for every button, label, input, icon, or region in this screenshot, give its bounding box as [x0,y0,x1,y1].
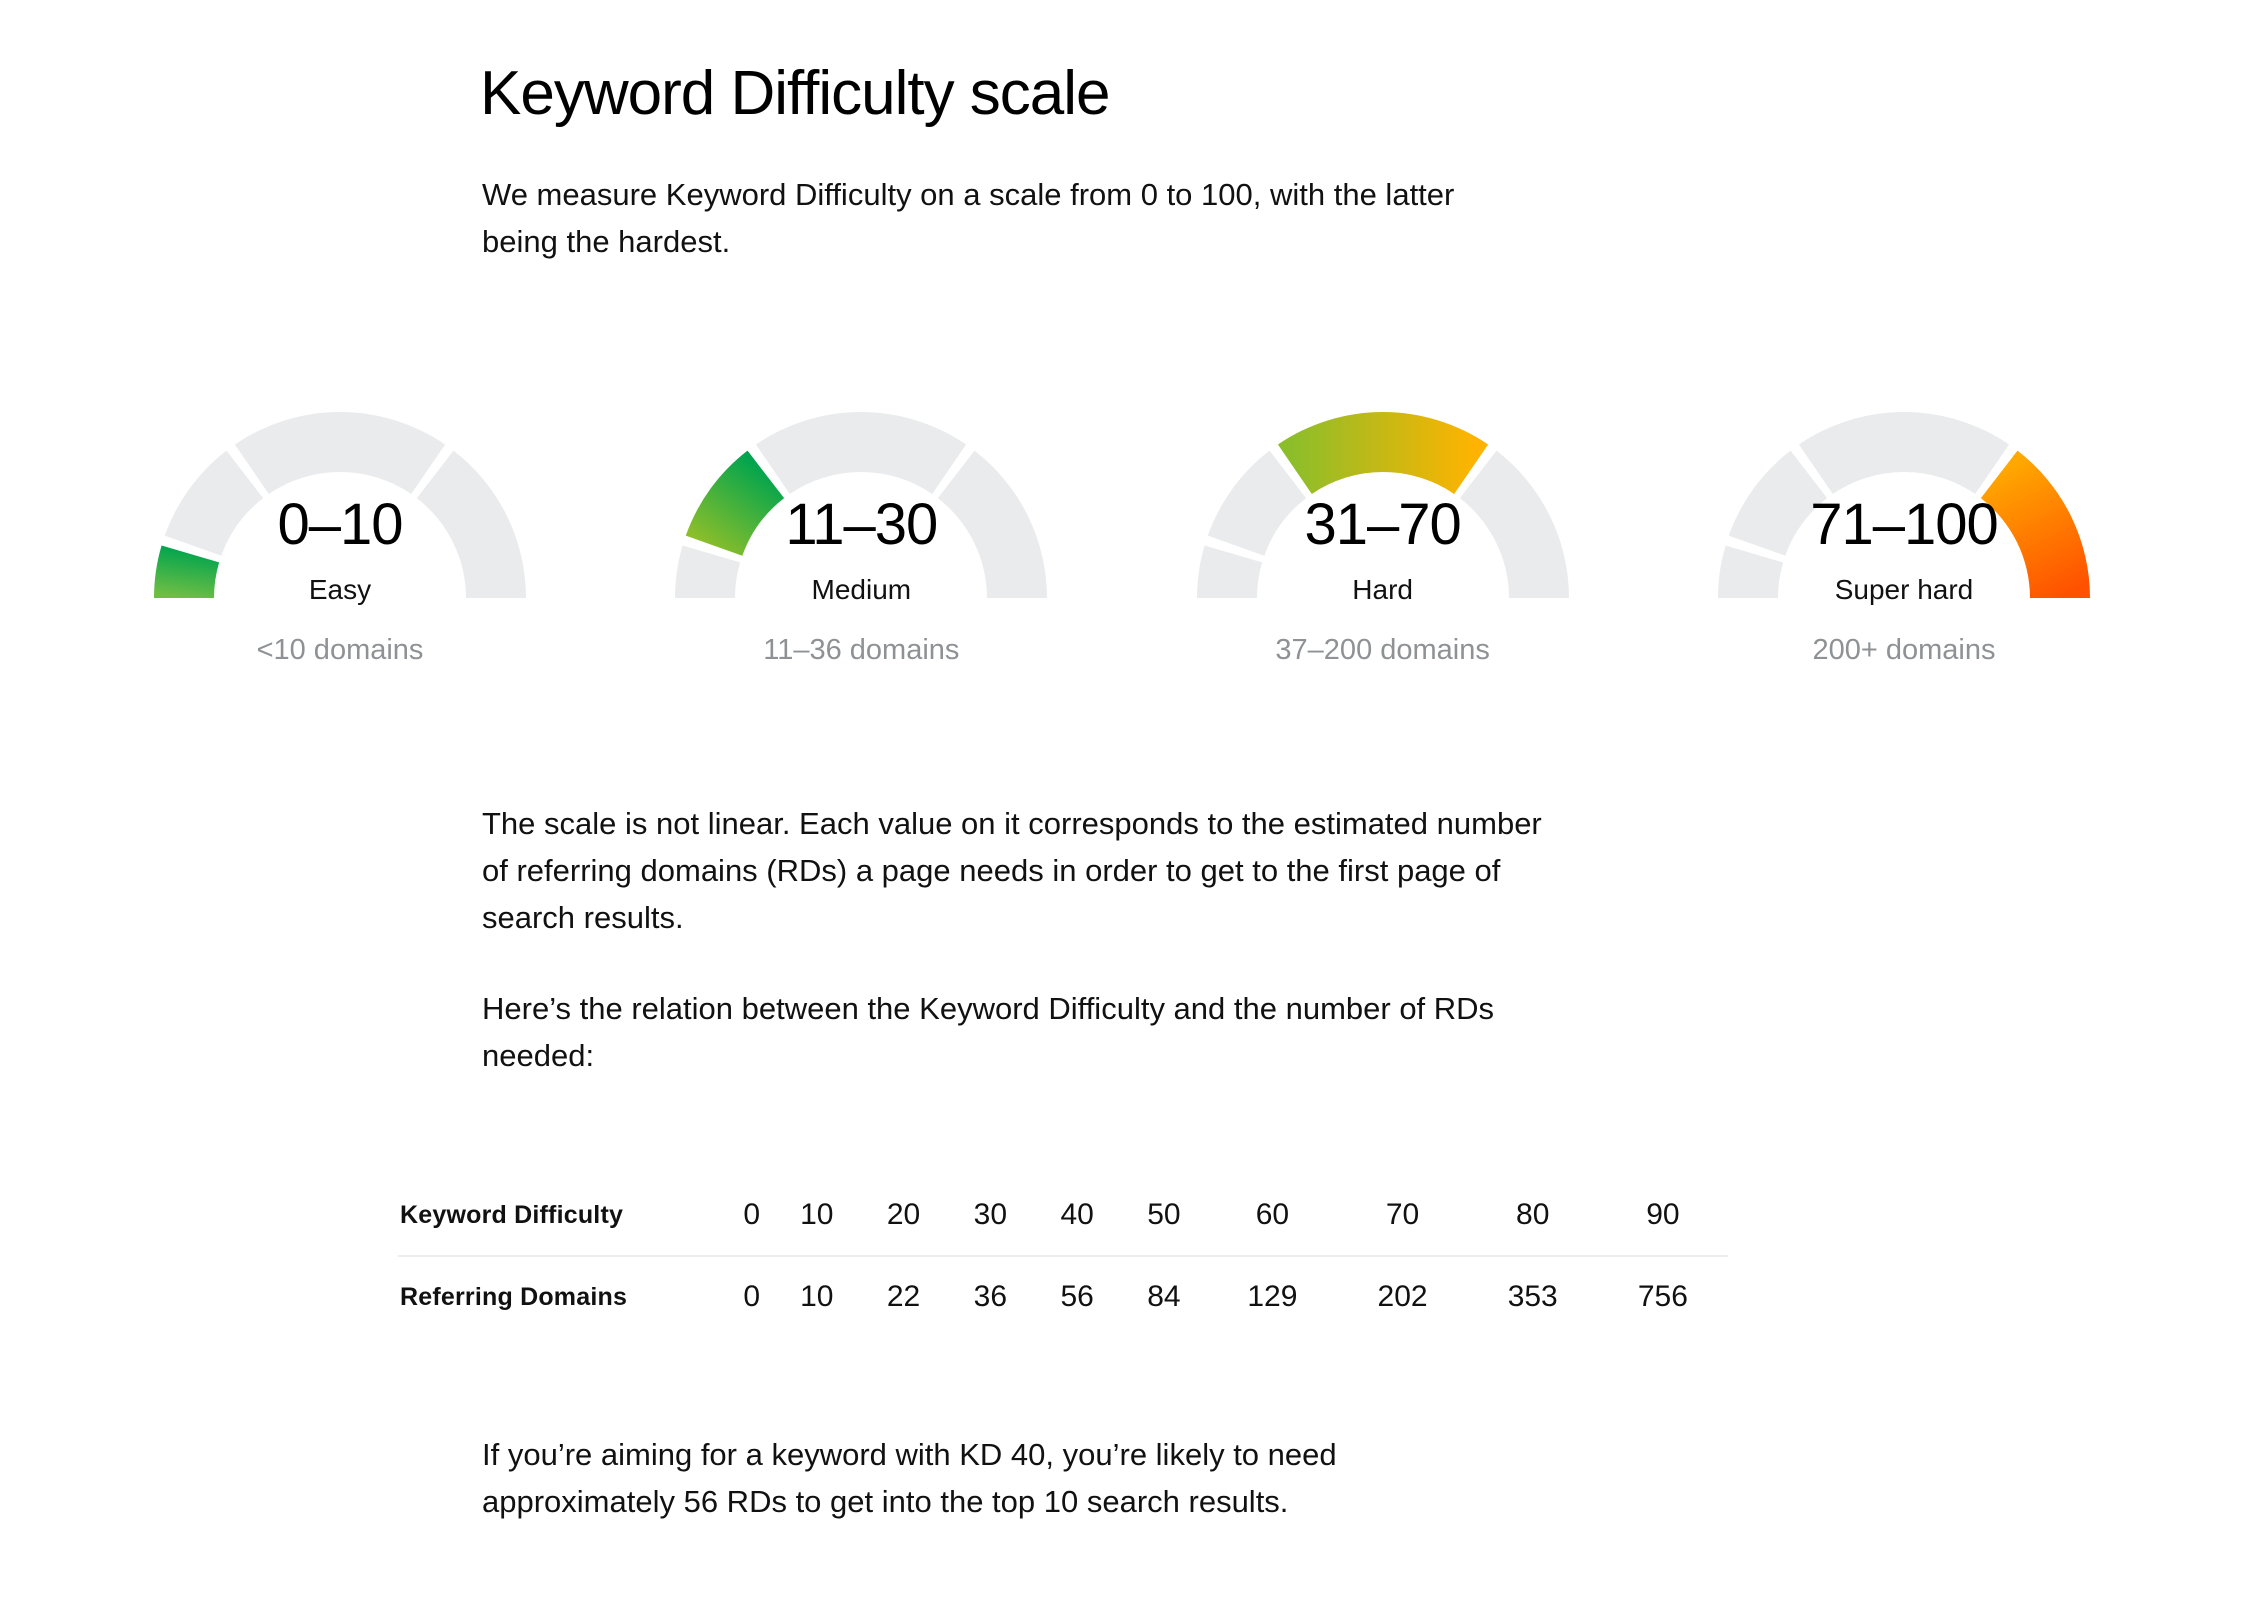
gauge-segment-active [686,451,784,556]
gauge-segment-inactive [417,451,526,598]
cell-rd-3: 36 [947,1256,1034,1337]
gauge-medium: 11–30Medium11–36 domains [631,320,1091,720]
cell-rd-7: 202 [1337,1256,1467,1337]
cell-rd-0: 0 [730,1256,773,1337]
cell-kd-0: 0 [730,1175,773,1256]
gauge-domains-caption: 200+ domains [1674,636,2134,665]
table-row: Referring Domains 0 10 22 36 56 84 129 2… [398,1256,1728,1337]
cell-rd-2: 22 [860,1256,947,1337]
cell-rd-9: 756 [1598,1256,1728,1337]
gauge-segment-inactive [938,451,1047,598]
gauge-segment-inactive [1718,545,1783,598]
closing-paragraph: If you’re aiming for a keyword with KD 4… [482,1431,1512,1525]
gauge-segment-inactive [675,545,740,598]
gauge-arc [1674,320,2134,620]
paragraph-relation-intro: Here’s the relation between the Keyword … [482,985,1572,1079]
cell-kd-3: 30 [947,1175,1034,1256]
cell-rd-6: 129 [1207,1256,1337,1337]
gauge-domains-caption: <10 domains [110,636,570,665]
cell-kd-6: 60 [1207,1175,1337,1256]
cell-kd-9: 90 [1598,1175,1728,1256]
gauge-segment-inactive [1460,451,1569,598]
gauge-segment-inactive [1207,451,1305,556]
gauge-segment-inactive [1799,412,2009,494]
body-text-block: The scale is not linear. Each value on i… [482,800,1572,1080]
kd-to-rd-table: Keyword Difficulty 0 10 20 30 40 50 60 7… [398,1175,1728,1337]
gauge-segment-active [1278,412,1488,494]
gauge-segment-active [1981,451,2090,598]
gauge-segment-inactive [1197,545,1262,598]
gauge-hard: 31–70Hard37–200 domains [1153,320,1613,720]
gauge-easy: 0–10Easy<10 domains [110,320,570,720]
gauge-segment-inactive [756,412,966,494]
cell-kd-1: 10 [773,1175,860,1256]
paragraph-scale-not-linear: The scale is not linear. Each value on i… [482,800,1572,941]
gauge-arc [1153,320,1613,620]
gauge-arc [110,320,570,620]
gauge-row: 0–10Easy<10 domains11–30Medium11–36 doma… [0,320,2244,720]
cell-kd-7: 70 [1337,1175,1467,1256]
cell-kd-2: 20 [860,1175,947,1256]
row-header-referring-domains: Referring Domains [398,1256,730,1337]
table-body: Keyword Difficulty 0 10 20 30 40 50 60 7… [398,1175,1728,1337]
gauge-segment-inactive [165,451,263,556]
table-row: Keyword Difficulty 0 10 20 30 40 50 60 7… [398,1175,1728,1256]
cell-rd-8: 353 [1468,1256,1598,1337]
gauge-segment-active [154,545,219,598]
gauge-domains-caption: 37–200 domains [1153,636,1613,665]
cell-rd-5: 84 [1121,1256,1208,1337]
gauge-domains-caption: 11–36 domains [631,636,1091,665]
cell-kd-4: 40 [1034,1175,1121,1256]
keyword-difficulty-page: Keyword Difficulty scale We measure Keyw… [0,0,2244,1620]
cell-kd-5: 50 [1121,1175,1208,1256]
gauge-super-hard: 71–100Super hard200+ domains [1674,320,2134,720]
cell-rd-1: 10 [773,1256,860,1337]
gauge-segment-inactive [1729,451,1827,556]
gauge-arc [631,320,1091,620]
row-header-keyword-difficulty: Keyword Difficulty [398,1175,730,1256]
cell-rd-4: 56 [1034,1256,1121,1337]
intro-paragraph: We measure Keyword Difficulty on a scale… [482,171,1512,265]
gauge-segment-inactive [235,412,445,494]
page-title: Keyword Difficulty scale [480,60,1880,128]
cell-kd-8: 80 [1468,1175,1598,1256]
